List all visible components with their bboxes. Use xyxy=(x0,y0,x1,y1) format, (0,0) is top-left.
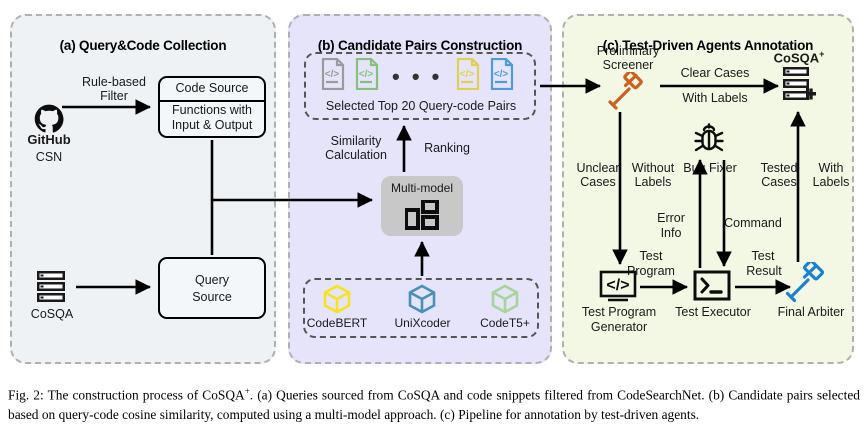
caption-part-1: Fig. 2: The construction process of CoSQ… xyxy=(8,387,245,402)
figure-container: (a) Query&Code Collection GitHub CSN Rul… xyxy=(0,0,865,448)
figure-caption: Fig. 2: The construction process of CoSQ… xyxy=(8,382,860,425)
arrows-layer xyxy=(0,0,865,448)
